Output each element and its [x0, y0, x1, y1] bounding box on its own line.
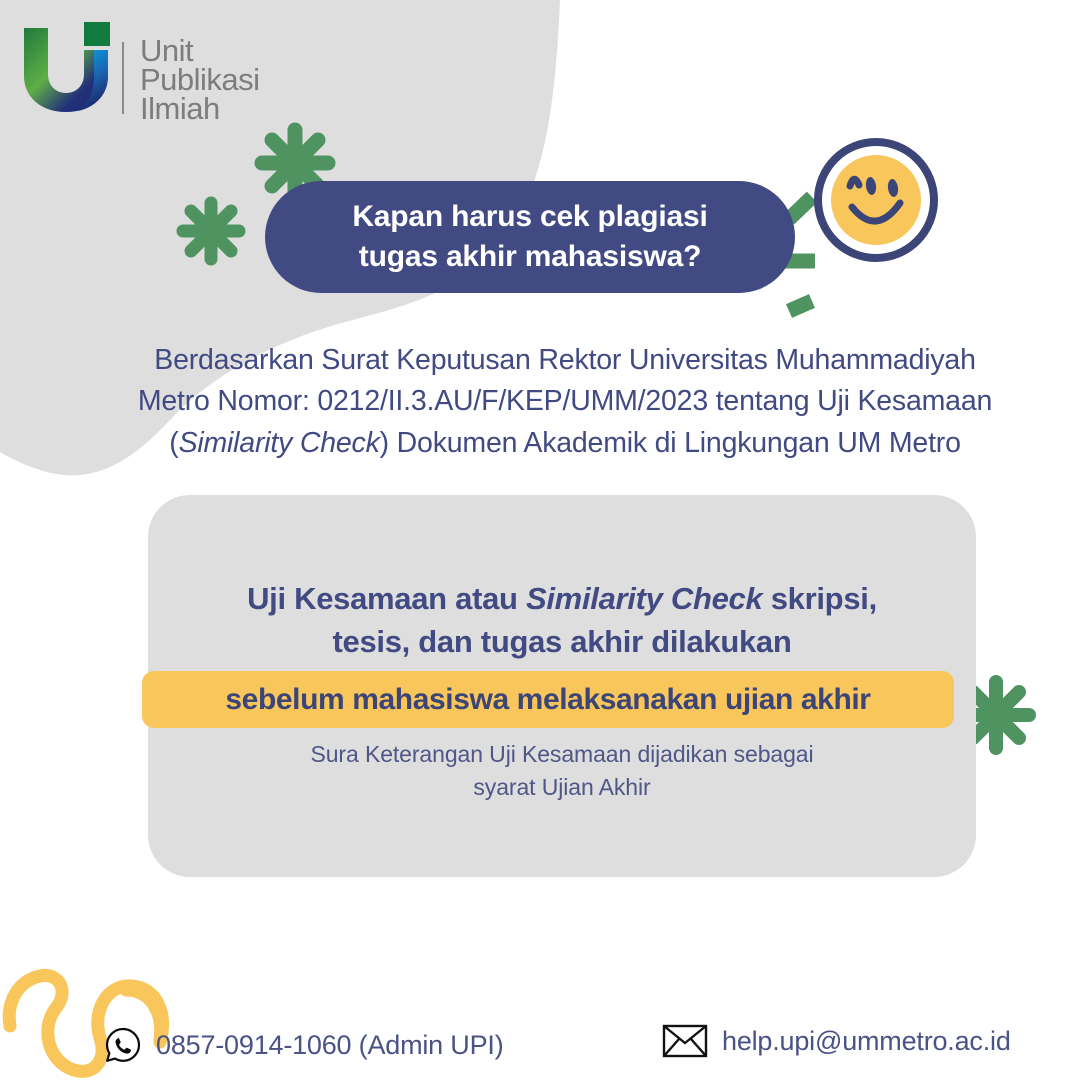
card-subtext: Sura Keterangan Uji Kesamaan dijadikan s…: [148, 738, 976, 805]
headline-banner: Kapan harus cek plagiasi tugas akhir mah…: [265, 181, 795, 293]
email-address: help.upi@ummetro.ac.id: [722, 1026, 1011, 1057]
decree-line-1: Berdasarkan Surat Keputusan Rektor Unive…: [60, 340, 1070, 381]
decree-paragraph: Berdasarkan Surat Keputusan Rektor Unive…: [60, 340, 1070, 464]
contact-phone[interactable]: 0857-0914-1060 (Admin UPI): [104, 1026, 504, 1064]
logo-line-3: Ilmiah: [140, 95, 260, 124]
card-subtext-line-1: Sura Keterangan Uji Kesamaan dijadikan s…: [148, 738, 976, 771]
whatsapp-icon: [104, 1026, 142, 1064]
smiley-face-icon: [818, 142, 934, 258]
contact-email[interactable]: help.upi@ummetro.ac.id: [662, 1024, 1011, 1058]
highlight-banner: sebelum mahasiswa melaksanakan ujian akh…: [142, 671, 954, 728]
headline-line-2: tugas akhir mahasiswa?: [359, 237, 701, 277]
envelope-icon: [662, 1024, 708, 1058]
card-heading-italic-term: Similarity Check: [526, 581, 762, 616]
poster-canvas: Unit Publikasi Ilmiah Kapan harus cek pl…: [0, 0, 1080, 1080]
decree-line-2: Metro Nomor: 0212/II.3.AU/F/KEP/UMM/2023…: [60, 381, 1070, 422]
card-heading-line-1: Uji Kesamaan atau Similarity Check skrip…: [148, 578, 976, 621]
upi-u-logo-icon: [18, 20, 110, 112]
main-statement-card: Uji Kesamaan atau Similarity Check skrip…: [148, 495, 976, 877]
logo-wordmark: Unit Publikasi Ilmiah: [140, 37, 260, 123]
card-heading: Uji Kesamaan atau Similarity Check skrip…: [148, 578, 976, 664]
decree-italic-term: Similarity Check: [179, 427, 380, 459]
highlight-text: sebelum mahasiswa melaksanakan ujian akh…: [225, 683, 870, 717]
decree-line-3: (Similarity Check) Dokumen Akademik di L…: [60, 423, 1070, 464]
decree-paren-open: (: [169, 427, 178, 459]
brand-logo: Unit Publikasi Ilmiah: [18, 20, 268, 120]
decree-line-3-tail: ) Dokumen Akademik di Lingkungan UM Metr…: [380, 427, 961, 459]
card-subtext-line-2: syarat Ujian Akhir: [148, 771, 976, 804]
card-heading-part-b: skripsi,: [762, 581, 876, 616]
logo-divider: [122, 42, 124, 114]
headline-line-1: Kapan harus cek plagiasi: [352, 197, 707, 237]
card-heading-line-2: tesis, dan tugas akhir dilakukan: [148, 621, 976, 664]
card-heading-part-a: Uji Kesamaan atau: [247, 581, 526, 616]
phone-number: 0857-0914-1060 (Admin UPI): [156, 1030, 504, 1061]
